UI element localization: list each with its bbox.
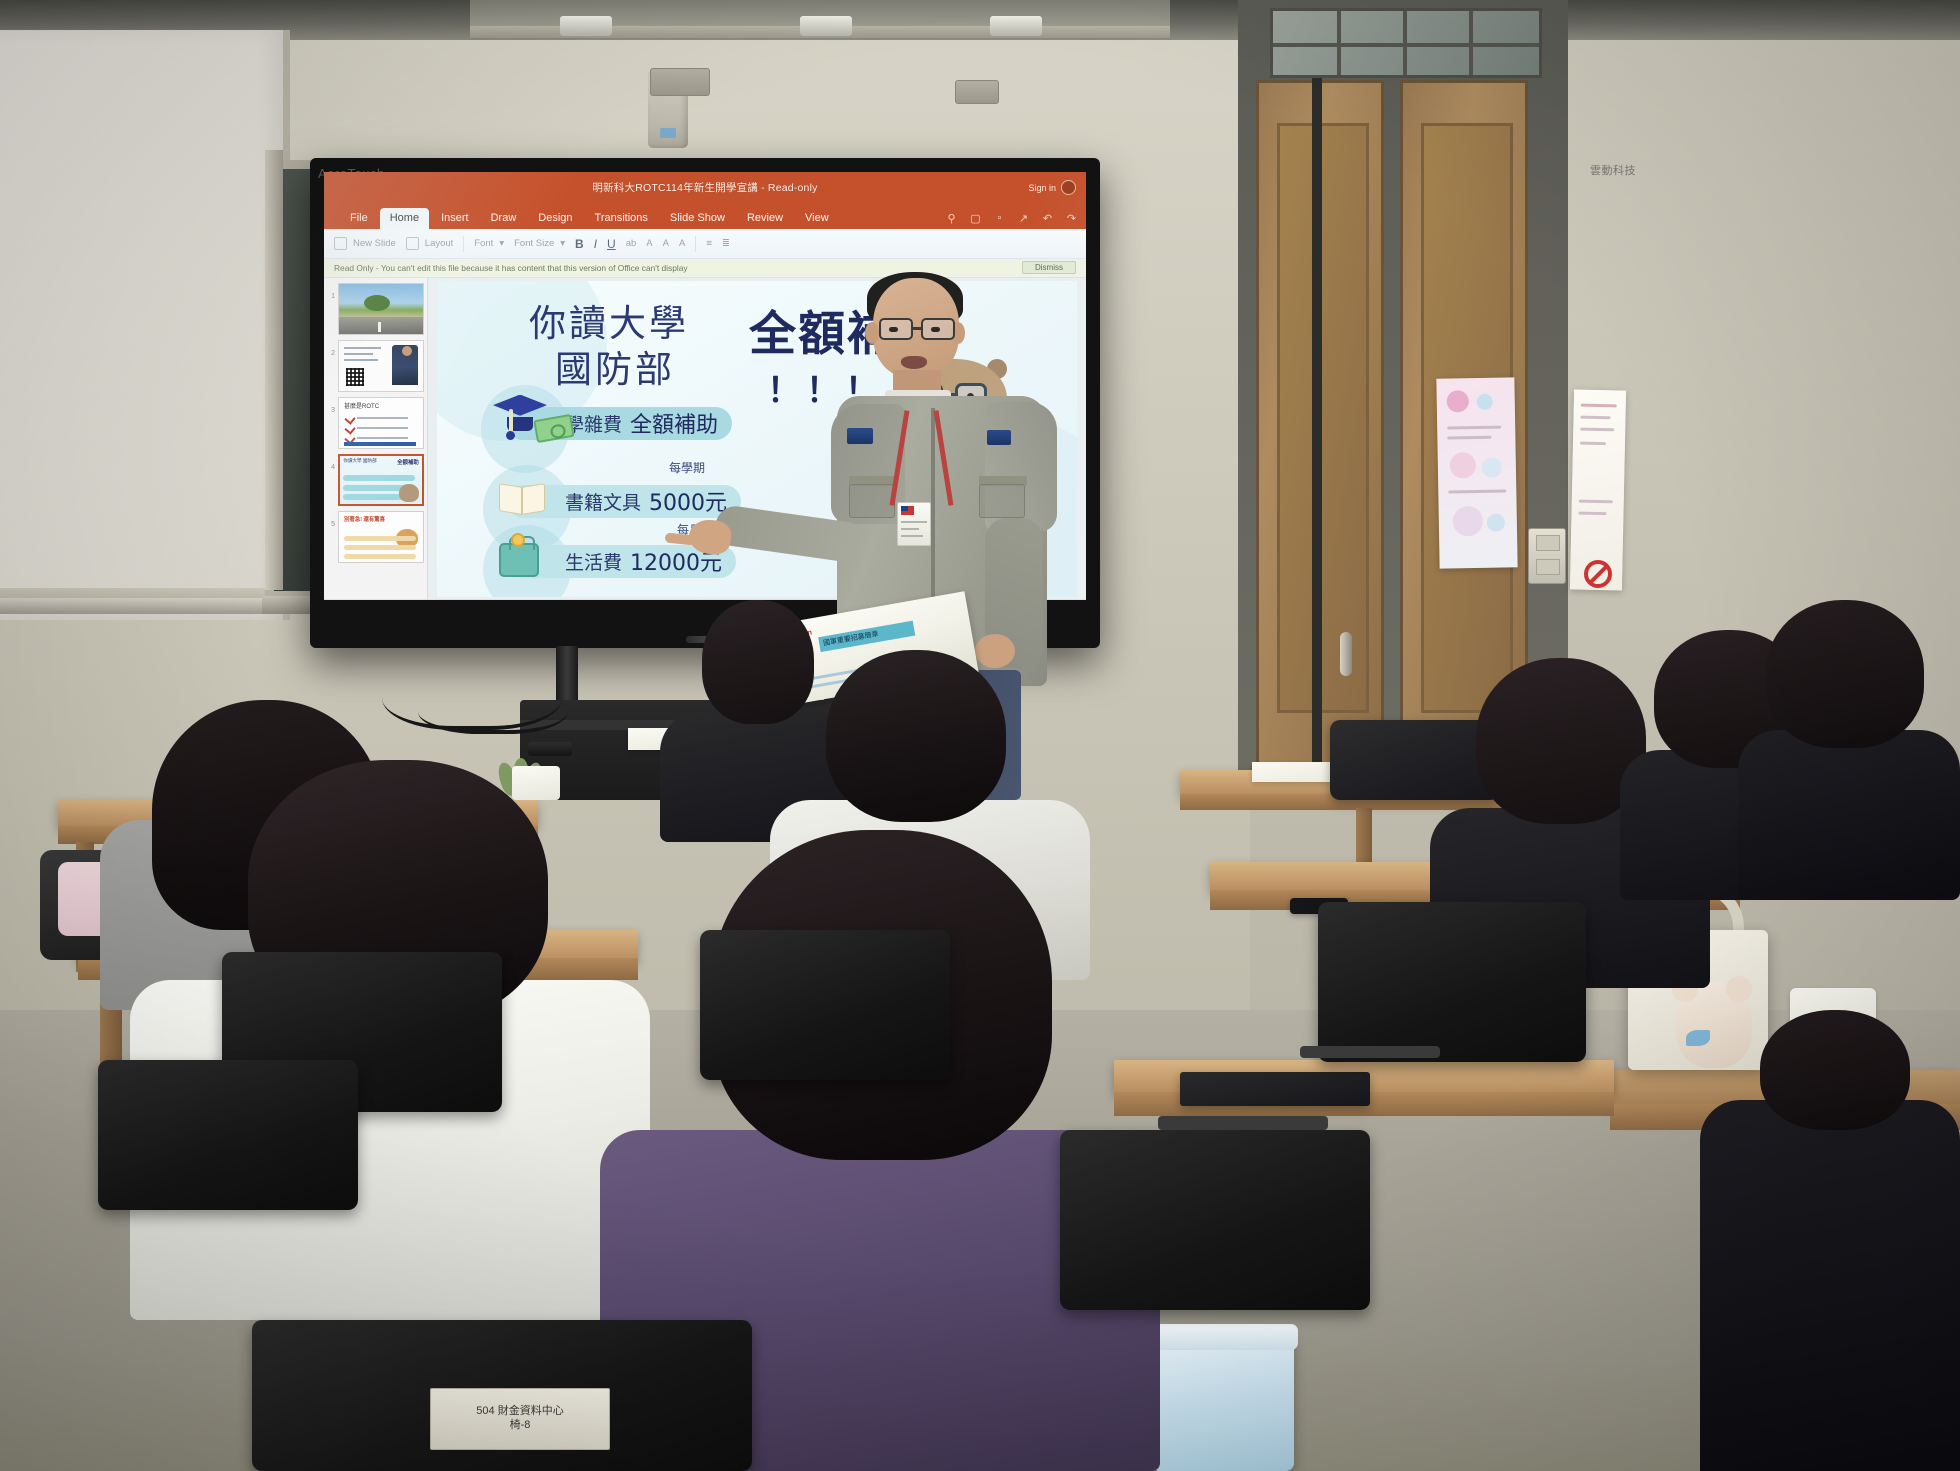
presenter-unit-patch-right bbox=[987, 430, 1011, 445]
presenter-eye-left bbox=[889, 327, 898, 332]
door-gap bbox=[1312, 78, 1322, 772]
open-book-icon bbox=[499, 485, 547, 515]
chevron-down-icon[interactable]: ▾ bbox=[499, 238, 504, 249]
chair-armrest bbox=[1158, 1116, 1328, 1130]
presenter-mouth bbox=[901, 356, 927, 369]
tablet-on-desk bbox=[1180, 1072, 1370, 1106]
bullet-list-button[interactable]: ≡ bbox=[706, 238, 712, 249]
student-far-right bbox=[1738, 600, 1960, 880]
thumbnail-slide-4-selected[interactable]: 你讀大學 國防部 全額補助 bbox=[338, 454, 424, 506]
ceiling-light-3 bbox=[990, 16, 1042, 36]
chair-placard: 504 財金資料中心 椅-8 bbox=[430, 1388, 610, 1450]
presenter-glasses-bridge bbox=[911, 327, 923, 330]
font-name-value: Font bbox=[474, 238, 493, 249]
text-highlight-button[interactable]: A bbox=[646, 238, 652, 249]
thumbnail-row-2[interactable]: 2 bbox=[327, 340, 424, 392]
redo-icon[interactable]: ↷ bbox=[1065, 212, 1078, 225]
thumbnail-slide-3[interactable]: 甚麼是ROTC bbox=[338, 397, 424, 449]
read-only-message: Read Only - You can't edit this file bec… bbox=[334, 263, 688, 273]
thumbnail-row-1[interactable]: 1 bbox=[327, 283, 424, 335]
student-head bbox=[1766, 600, 1924, 748]
present-icon[interactable]: ▢ bbox=[969, 212, 982, 225]
row2-amount: 5000元 bbox=[649, 485, 727, 517]
whiteboard bbox=[0, 30, 290, 620]
presenter-pocket-right bbox=[979, 484, 1025, 518]
ppt-sign-in[interactable]: Sign in bbox=[1028, 180, 1076, 195]
tab-home[interactable]: Home bbox=[380, 208, 429, 229]
tab-transitions[interactable]: Transitions bbox=[585, 208, 658, 229]
thumbnail-5-title: 別著急! 還有驚喜 bbox=[344, 515, 385, 523]
graduation-tassel-bead bbox=[506, 431, 515, 440]
ppt-ribbon: New Slide Layout Font ▾ Font Size ▾ B I … bbox=[324, 229, 1086, 259]
chevron-down-icon[interactable]: ▾ bbox=[560, 238, 565, 249]
coin-icon bbox=[511, 533, 525, 547]
italic-button[interactable]: I bbox=[594, 237, 597, 251]
layout-button[interactable]: Layout bbox=[406, 237, 454, 250]
tab-file[interactable]: File bbox=[340, 208, 378, 229]
capybara-icon bbox=[399, 484, 419, 502]
ppt-title-bar: 明新科大ROTC114年新生開學宣講 - Read-only Sign in bbox=[324, 172, 1086, 203]
presenter-pocket-left bbox=[849, 484, 895, 518]
chair-right-1 bbox=[1318, 902, 1586, 1062]
thumbnail-slide-1[interactable] bbox=[338, 283, 424, 335]
thumbnail-3-footer-bar bbox=[344, 442, 416, 446]
flag-canton-icon bbox=[901, 506, 908, 511]
sign-in-label: Sign in bbox=[1028, 183, 1056, 193]
new-slide-label: New Slide bbox=[353, 238, 396, 249]
font-size-value: Font Size bbox=[514, 238, 554, 249]
student-torso bbox=[1700, 1100, 1960, 1471]
whiteboard-marker-tray bbox=[0, 598, 295, 614]
comments-icon[interactable]: ▫ bbox=[993, 212, 1006, 225]
presenter-unit-patch-left bbox=[847, 428, 873, 444]
tab-slide-show[interactable]: Slide Show bbox=[660, 208, 735, 229]
recruit-head bbox=[402, 346, 412, 356]
student-torso bbox=[1738, 730, 1960, 900]
thumbnail-number: 1 bbox=[327, 283, 335, 300]
pink-activity-poster bbox=[1436, 377, 1517, 568]
tab-design[interactable]: Design bbox=[528, 208, 582, 229]
wallet-icon bbox=[499, 543, 539, 577]
dismiss-button[interactable]: Dismiss bbox=[1022, 261, 1076, 274]
door-left-panel-inset bbox=[1277, 123, 1369, 713]
chair-armrest-2 bbox=[1300, 1046, 1440, 1058]
thumbnail-4-title-right: 全額補助 bbox=[397, 458, 419, 466]
ribbon-divider-1 bbox=[463, 236, 464, 252]
paper-on-desk-2 bbox=[1252, 762, 1338, 782]
drink-cup bbox=[1152, 1330, 1294, 1471]
presenter-ear-left bbox=[865, 322, 879, 344]
row1-amount: 全額補助 bbox=[630, 407, 718, 439]
read-only-notice-bar: Read Only - You can't edit this file bec… bbox=[324, 259, 1086, 278]
tab-review[interactable]: Review bbox=[737, 208, 793, 229]
number-list-button[interactable]: ≣ bbox=[722, 238, 730, 249]
wall-indicator-light bbox=[660, 128, 676, 138]
thumbnail-number: 3 bbox=[327, 397, 335, 414]
share-icon[interactable]: ↗ bbox=[1017, 212, 1030, 225]
thumbnail-3-title: 甚麼是ROTC bbox=[344, 401, 379, 410]
thumbnail-slide-2[interactable] bbox=[338, 340, 424, 392]
thumbnail-slide-5[interactable]: 別著急! 還有驚喜 bbox=[338, 511, 424, 563]
presenter-id-badge bbox=[897, 502, 931, 546]
thumbnail-number: 4 bbox=[327, 454, 335, 471]
student-far-right-near bbox=[1700, 1040, 1960, 1470]
layout-label: Layout bbox=[425, 238, 454, 249]
wall-vent-2 bbox=[955, 80, 999, 104]
chair-placard-line2: 椅-8 bbox=[510, 1419, 531, 1433]
tab-view[interactable]: View bbox=[795, 208, 839, 229]
graduation-tassel-icon bbox=[509, 409, 513, 433]
road-dash bbox=[378, 322, 381, 332]
thumbnail-row-5[interactable]: 5 別著急! 還有驚喜 bbox=[327, 511, 424, 563]
thumbnail-row-3[interactable]: 3 甚麼是ROTC bbox=[327, 397, 424, 449]
tab-draw[interactable]: Draw bbox=[481, 208, 527, 229]
ribbon-divider-2 bbox=[695, 236, 696, 252]
door-transom-glass bbox=[1270, 8, 1542, 78]
font-color-button[interactable]: A bbox=[679, 238, 685, 249]
chair-placard-line1: 504 財金資料中心 bbox=[476, 1405, 563, 1419]
search-icon[interactable]: ⚲ bbox=[945, 212, 958, 225]
bold-button[interactable]: B bbox=[575, 237, 584, 251]
titlebar-icon-group: ⚲ ▢ ▫ ↗ ↶ ↷ bbox=[945, 212, 1078, 225]
row3-label: 生活費 bbox=[565, 548, 622, 575]
road-shape bbox=[339, 317, 423, 334]
thumbnail-number: 5 bbox=[327, 511, 335, 528]
thumbnail-number: 2 bbox=[327, 340, 335, 357]
display-cart-foot-left bbox=[528, 742, 572, 756]
ceiling-light-1 bbox=[560, 16, 612, 36]
row2-period: 每學期 bbox=[669, 459, 705, 476]
strikethrough-button[interactable]: ab bbox=[626, 238, 637, 249]
new-slide-button[interactable]: New Slide bbox=[334, 237, 396, 250]
layout-icon bbox=[406, 237, 419, 250]
classroom-photo: AeroTouch 雲動科技 明新科大ROTC114年新生開學宣講 - Read… bbox=[0, 0, 1960, 1471]
ppt-ribbon-tabs: File Home Insert Draw Design Transitions… bbox=[324, 203, 1086, 229]
wall-vent-1 bbox=[650, 68, 710, 96]
ceiling-light-2 bbox=[800, 16, 852, 36]
font-size-select[interactable]: Font Size ▾ bbox=[514, 238, 565, 249]
chair-right-2 bbox=[1060, 1130, 1370, 1310]
light-switch-plate[interactable] bbox=[1528, 528, 1566, 584]
student-head bbox=[1760, 1010, 1910, 1130]
presenter-eye-right bbox=[931, 327, 940, 332]
font-name-select[interactable]: Font ▾ bbox=[474, 238, 504, 249]
chair-back-left-2 bbox=[98, 1060, 358, 1210]
student-head bbox=[826, 650, 1006, 822]
book-page-left bbox=[499, 483, 522, 515]
display-vendor-label: 雲動科技 bbox=[1590, 162, 1636, 178]
tree-icon bbox=[364, 295, 390, 311]
display-cable-2 bbox=[418, 678, 568, 734]
door-handle[interactable] bbox=[1340, 632, 1352, 676]
new-slide-icon bbox=[334, 237, 347, 250]
ppt-document-title: 明新科大ROTC114年新生開學宣講 - Read-only bbox=[592, 180, 817, 195]
underline-button[interactable]: U bbox=[607, 237, 616, 251]
undo-icon[interactable]: ↶ bbox=[1041, 212, 1054, 225]
slide-thumbnail-pane[interactable]: 1 2 bbox=[324, 278, 428, 599]
clear-format-button[interactable]: A bbox=[663, 238, 669, 249]
board-rail bbox=[265, 150, 283, 590]
book-page-right bbox=[522, 483, 545, 515]
drink-cup-lid bbox=[1148, 1324, 1298, 1350]
plush-ear-right bbox=[1726, 976, 1752, 1002]
avatar[interactable] bbox=[1061, 180, 1076, 195]
row2-label: 書籍文具 bbox=[565, 488, 641, 515]
chair-back-center bbox=[700, 930, 950, 1080]
qr-code-icon bbox=[346, 368, 364, 386]
thumbnail-4-title-left: 你讀大學 國防部 bbox=[343, 458, 376, 464]
thumbnail-row-4[interactable]: 4 你讀大學 國防部 全額補助 bbox=[327, 454, 424, 506]
tab-insert[interactable]: Insert bbox=[431, 208, 479, 229]
slide-headline-line2: 國防部 bbox=[555, 339, 675, 393]
